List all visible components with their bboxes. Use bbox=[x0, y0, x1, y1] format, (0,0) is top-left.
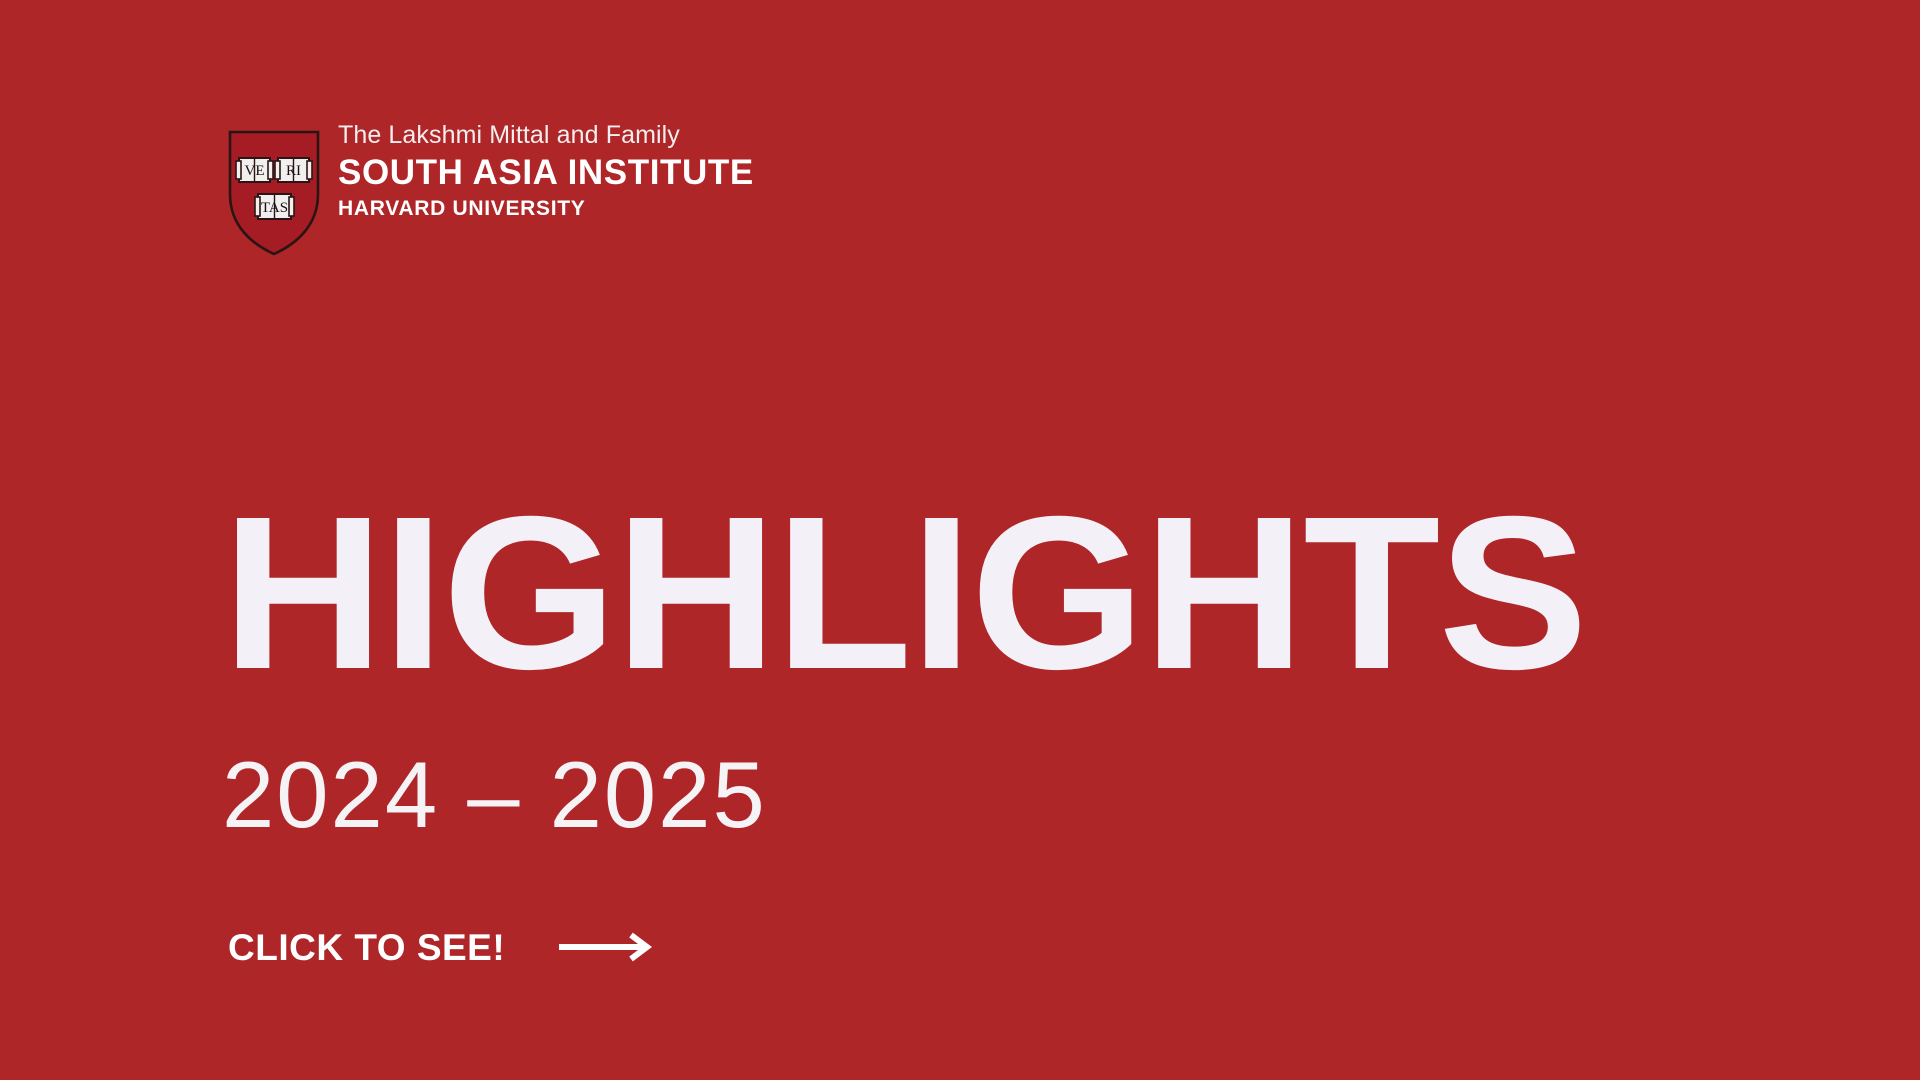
institute-logo-text: The Lakshmi Mittal and Family SOUTH ASIA… bbox=[338, 118, 754, 224]
svg-text:VE: VE bbox=[245, 163, 265, 179]
cta-label: CLICK TO SEE! bbox=[228, 929, 505, 966]
institute-logo-lockup[interactable]: VE RI TAS bbox=[228, 118, 754, 256]
logo-donor-line: The Lakshmi Mittal and Family bbox=[338, 118, 754, 152]
slide-canvas: VE RI TAS bbox=[0, 0, 1920, 1080]
logo-university-name: HARVARD UNIVERSITY bbox=[338, 194, 754, 224]
harvard-veritas-shield-icon: VE RI TAS bbox=[228, 130, 320, 256]
arrow-right-icon bbox=[557, 931, 655, 963]
page-title: HIGHLIGHTS bbox=[222, 498, 1767, 690]
logo-institute-name: SOUTH ASIA INSTITUTE bbox=[338, 152, 754, 194]
click-to-see-button[interactable]: CLICK TO SEE! bbox=[228, 920, 655, 974]
hero-block: HIGHLIGHTS 2024 – 2025 bbox=[222, 498, 1722, 690]
svg-text:RI: RI bbox=[286, 163, 301, 179]
svg-text:TAS: TAS bbox=[261, 200, 288, 216]
hero-year-range: 2024 – 2025 bbox=[222, 748, 767, 842]
